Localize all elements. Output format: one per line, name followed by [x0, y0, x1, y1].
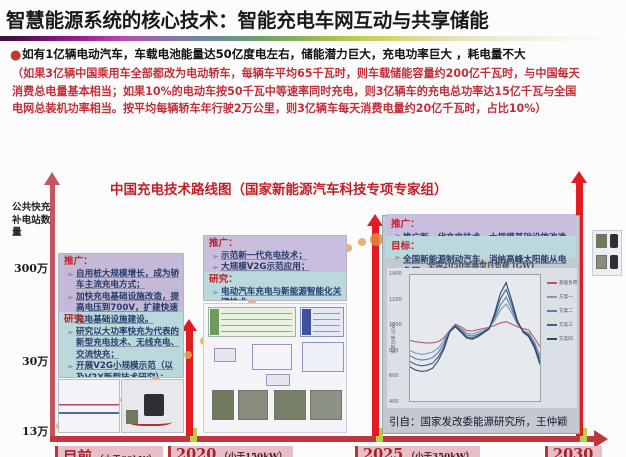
y-axis-label: 公共快充补电站数量	[12, 202, 58, 240]
y-tick-30: 30万	[22, 353, 48, 369]
stage-box-2020[interactable]: 推广： ➢ 示范新一代充电技术； ➢ 大规模V2G示范应用； 研究： ➢ 电动汽…	[203, 235, 347, 301]
mini-line	[313, 331, 340, 332]
stage-2025-promote-panel: 推广： ➢ 推广新一代充电技术，大规模基础设施改造	[386, 214, 576, 236]
mini-line	[313, 313, 340, 314]
chart-series-line	[410, 297, 540, 360]
inset-chart-ytick: 1000	[389, 322, 402, 328]
inset-chart-ytick: 800	[389, 348, 399, 354]
check-mark-icon: ➢	[212, 287, 221, 302]
inset-chart-svg	[410, 275, 540, 401]
mini-line	[221, 319, 292, 320]
inset-chart-ytick: 600	[389, 373, 399, 379]
section-item-text: 大规模V2G示范应用；	[221, 262, 343, 274]
paragraph-line-3: 电网总装机功率相当。按平均每辆轿车年行驶2万公里，则3亿辆车每天消费电量约20亿…	[12, 100, 622, 118]
title-divider	[0, 36, 626, 41]
milestone-arrow-2020	[186, 330, 193, 436]
legend-item: 方案一	[547, 294, 583, 300]
section-heading: 推广：	[59, 254, 183, 269]
mini-tab-green	[210, 309, 219, 335]
mini-note-blue	[300, 307, 344, 337]
inset-chart-ytick: 1400	[389, 271, 402, 277]
paragraph-line-2: 消费总电量基本相当；如果10%的电动车按50千瓦中等速率同时充电，则3亿辆车的充…	[12, 83, 622, 101]
y-tick-13: 13万	[22, 423, 48, 439]
mini-tab-blue	[302, 309, 311, 335]
section-item-text: 开展V2G小规模示范（以及V2X新型技术研究）；	[76, 361, 180, 378]
slide-root: 智慧能源系统的核心技术：智能充电车网互动与共享储能 ● 如有1亿辆电动汽车，车载…	[0, 0, 626, 457]
legend-swatch	[547, 338, 557, 340]
section-heading: 研究：	[204, 272, 346, 287]
inset-chart-legend: 基础负荷方案一方案二方案三方案四	[547, 280, 583, 350]
section-item: ➢ 研究以大功率快充为代表的新型充电技术、无线充电、交流快充；	[59, 327, 183, 362]
diagram-node	[252, 344, 292, 370]
grid-matrix-node	[302, 342, 344, 372]
timeline-year: 2025	[363, 446, 403, 457]
stage-box-2025-chart-panel[interactable]: 推广： ➢ 推广新一代充电技术，大规模基础设施改造 目标： ➢ 全国新能源制动汽…	[382, 215, 580, 434]
check-mark-icon: ➢	[67, 269, 76, 292]
inset-chart-ytick: 400	[389, 399, 399, 405]
section-heading: 目标：	[386, 236, 576, 253]
section-item: ➢ 电动汽车充电与新能源智能化关键技术。	[204, 287, 346, 302]
section-item-text: 自用桩大规模增长，成为轿车主流充电方式；	[76, 269, 180, 292]
timeline-power: （小于150kW）	[219, 450, 287, 457]
mini-line	[221, 325, 292, 326]
timeline-chip-2020[interactable]: 2020 （小于150kW）	[168, 446, 293, 457]
legend-swatch	[547, 282, 557, 284]
timeline-year: 2030	[553, 446, 593, 457]
mini-note-green	[208, 307, 296, 337]
roadmap-title: 中国充电技术路线图（国家新能源汽车科技专项专家组）	[110, 178, 448, 198]
y-tick-300: 300万	[14, 260, 48, 276]
growth-dot	[358, 238, 366, 246]
roadmap-diagram: 中国充电技术路线图（国家新能源汽车科技专项专家组） 公共快充补电站数量 300万…	[0, 170, 626, 457]
timeline-power: （小于350kW）	[406, 450, 474, 457]
legend-swatch	[547, 324, 557, 326]
chart-series-line	[410, 322, 540, 347]
timeline-year: 目前	[63, 446, 92, 457]
thumbnail-stage-2030	[592, 230, 622, 276]
mini-line	[313, 325, 340, 326]
milestone-arrow-2025	[372, 225, 379, 436]
section-item: ➢ 大规模V2G示范应用；	[204, 262, 346, 274]
mini-line	[313, 319, 340, 320]
photo-thumb	[596, 234, 607, 248]
inset-chart-plot	[409, 274, 541, 402]
bullet-text: 如有1亿辆电动汽车，车载电池能量达50亿度电左右，储能潜力巨大，充电功率巨大 ，…	[22, 46, 622, 63]
inset-chart-citation: 引自：国家发改委能源研究所，王仲颖	[389, 414, 568, 429]
page-title: 智慧能源系统的核心技术：智能充电车网互动与共享储能	[6, 4, 622, 33]
section-item: ➢ 示范新一代充电技术；	[204, 251, 346, 263]
check-mark-icon: ➢	[212, 251, 221, 263]
diagram-node	[214, 348, 236, 362]
stage-2025-goal-panel: 目标： ➢ 全国新能源制动汽车，消纳高峰太阳能从电负荷	[386, 236, 576, 258]
timeline-chip-2030[interactable]: 2030	[545, 446, 602, 457]
legend-label: 方案二	[559, 308, 573, 314]
bullet-row: ● 如有1亿辆电动汽车，车载电池能量达50亿度电左右，储能潜力巨大，充电功率巨大…	[10, 46, 622, 65]
photo-thumb	[126, 410, 138, 424]
section-item: ➢ 开展V2G小规模示范（以及V2X新型技术研究）；	[59, 361, 183, 378]
bullet-dot-icon: ●	[10, 46, 22, 65]
stage-2020-promote-panel: 推广： ➢ 示范新一代充电技术； ➢ 大规模V2G示范应用；	[204, 236, 346, 272]
thumbnail-schematic-stage-2020	[203, 303, 347, 433]
check-mark-icon: ➢	[67, 361, 76, 378]
section-item: ➢ 自用桩大规模增长，成为轿车主流充电方式；	[59, 269, 183, 292]
timeline-chip-2025[interactable]: 2025 （小于350kW）	[355, 446, 480, 457]
mini-line	[221, 331, 292, 332]
thumbnail-chart-lines	[59, 380, 119, 432]
legend-swatch	[547, 310, 557, 312]
charger-icon	[144, 394, 164, 416]
photo-thumb	[596, 255, 607, 269]
section-item-text: 研究以大功率快充为代表的新型充电技术、无线充电、交流快充；	[76, 327, 180, 362]
photo-thumb	[310, 390, 342, 420]
stage-current-promote-panel: 推广： ➢ 自用桩大规模增长，成为轿车主流充电方式； ➢ 加快充电基础设施改造，…	[59, 254, 183, 312]
photo-thumb	[212, 390, 234, 420]
section-item-text: 电动汽车充电与新能源智能化关键技术。	[221, 287, 343, 302]
legend-label: 基础负荷	[559, 280, 577, 286]
charger-icon	[610, 234, 618, 248]
photo-thumb	[274, 390, 306, 420]
charger-icon	[610, 255, 618, 269]
check-mark-icon: ➢	[212, 262, 221, 274]
timeline-chip-current[interactable]: 目前 （小于60kW）	[55, 446, 163, 457]
x-axis	[50, 436, 596, 442]
legend-label: 方案一	[559, 294, 573, 300]
thumbnail-photo-stage-current	[121, 379, 184, 433]
legend-swatch	[547, 296, 557, 298]
body-text-block: ● 如有1亿辆电动汽车，车载电池能量达50亿度电左右，储能潜力巨大，充电功率巨大…	[10, 46, 622, 118]
section-heading: 推广：	[204, 236, 346, 251]
stage-2020-research-panel: 研究： ➢ 电动汽车充电与新能源智能化关键技术。	[204, 272, 346, 300]
photo-thumb	[238, 390, 268, 420]
legend-label: 方案四	[559, 336, 573, 342]
stage-box-current[interactable]: 推广： ➢ 自用桩大规模增长，成为轿车主流充电方式； ➢ 加快充电基础设施改造，…	[58, 253, 184, 378]
section-heading: 推广：	[386, 214, 576, 231]
inset-chart-ytick: 1200	[389, 297, 402, 303]
legend-item: 方案三	[547, 322, 583, 328]
legend-item: 方案四	[547, 336, 583, 342]
section-item-text: 示范新一代充电技术；	[221, 251, 343, 263]
check-mark-icon: ➢	[67, 327, 76, 362]
inset-chart-area: 负荷功率 (GW) 140012001000800600400 基础负荷方案一方…	[387, 268, 577, 408]
legend-label: 方案三	[559, 322, 573, 328]
thumbnail-chart-stage-current	[58, 379, 120, 433]
chart-series-line	[410, 304, 540, 356]
diagram-node	[266, 374, 290, 386]
legend-item: 方案二	[547, 308, 583, 314]
growth-dot	[184, 351, 192, 359]
timeline-power: （小于60kW）	[95, 453, 157, 457]
legend-item: 基础负荷	[547, 280, 583, 286]
mini-line	[221, 313, 292, 314]
paragraph-line-1: （如果3亿辆中国乘用车全部都改为电动轿车，每辆车平均65千瓦时，则车载储能容量约…	[12, 65, 622, 83]
timeline-year: 2020	[176, 446, 216, 457]
